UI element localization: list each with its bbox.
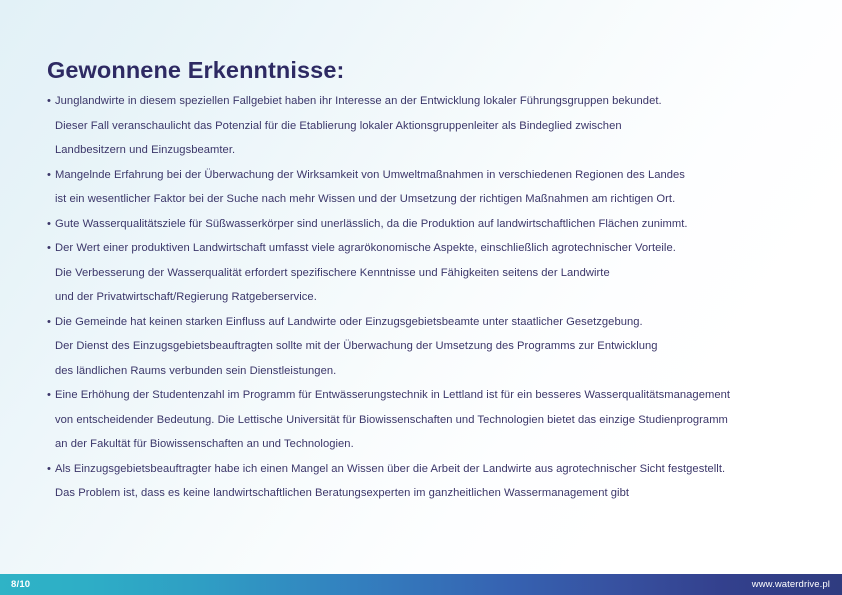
list-item-text: Der Dienst des Einzugsgebietsbeauftragte… (55, 340, 658, 352)
list-item-text: und der Privatwirtschaft/Regierung Ratge… (55, 291, 317, 303)
bullet-point-icon: • (47, 310, 55, 335)
list-item: •Als Einzugsgebietsbeauftragter habe ich… (47, 457, 807, 506)
list-item: •Junglandwirte in diesem speziellen Fall… (47, 89, 807, 163)
list-item-wrapped-line: ist ein wesentlicher Faktor bei der Such… (47, 187, 807, 212)
list-item-text: Mangelnde Erfahrung bei der Überwachung … (55, 169, 685, 181)
list-item-text: des ländlichen Raums verbunden sein Dien… (55, 365, 336, 377)
list-item: •Der Wert einer produktiven Landwirtscha… (47, 236, 807, 310)
list-item-first-line: •Die Gemeinde hat keinen starken Einflus… (47, 310, 807, 335)
list-item-first-line: •Als Einzugsgebietsbeauftragter habe ich… (47, 457, 807, 482)
list-item-text: Landbesitzern und Einzugsbeamter. (55, 144, 235, 156)
footer-bar: 8/10 www.waterdrive.pl (0, 574, 842, 595)
list-item-wrapped-line: an der Fakultät für Biowissenschaften an… (47, 432, 807, 457)
list-item-text: Die Verbesserung der Wasserqualität erfo… (55, 267, 610, 279)
list-item-wrapped-line: Die Verbesserung der Wasserqualität erfo… (47, 261, 807, 286)
list-item-text: von entscheidender Bedeutung. Die Lettis… (55, 414, 728, 426)
presentation-slide: Gewonnene Erkenntnisse: •Junglandwirte i… (0, 0, 842, 595)
list-item-wrapped-line: Dieser Fall veranschaulicht das Potenzia… (47, 114, 807, 139)
list-item-text: ist ein wesentlicher Faktor bei der Such… (55, 193, 675, 205)
list-item-first-line: •Der Wert einer produktiven Landwirtscha… (47, 236, 807, 261)
list-item-text: Junglandwirte in diesem speziellen Fallg… (55, 95, 662, 107)
list-item: •Die Gemeinde hat keinen starken Einflus… (47, 310, 807, 384)
list-item-wrapped-line: und der Privatwirtschaft/Regierung Ratge… (47, 285, 807, 310)
list-item: •Gute Wasserqualitätsziele für Süßwasser… (47, 212, 807, 237)
list-item-first-line: •Gute Wasserqualitätsziele für Süßwasser… (47, 212, 807, 237)
list-item: •Mangelnde Erfahrung bei der Überwachung… (47, 163, 807, 212)
page-title: Gewonnene Erkenntnisse: (47, 57, 344, 84)
bullet-point-icon: • (47, 236, 55, 261)
footer-website-link[interactable]: www.waterdrive.pl (752, 574, 830, 595)
list-item: •Eine Erhöhung der Studentenzahl im Prog… (47, 383, 807, 457)
bullet-point-icon: • (47, 163, 55, 188)
list-item-text: Als Einzugsgebietsbeauftragter habe ich … (55, 463, 725, 475)
list-item-wrapped-line: von entscheidender Bedeutung. Die Lettis… (47, 408, 807, 433)
list-item-wrapped-line: Der Dienst des Einzugsgebietsbeauftragte… (47, 334, 807, 359)
bullet-point-icon: • (47, 212, 55, 237)
list-item-text: Eine Erhöhung der Studentenzahl im Progr… (55, 389, 730, 401)
list-item-first-line: •Eine Erhöhung der Studentenzahl im Prog… (47, 383, 807, 408)
bullet-list: •Junglandwirte in diesem speziellen Fall… (47, 89, 807, 506)
bullet-point-icon: • (47, 457, 55, 482)
list-item-first-line: •Junglandwirte in diesem speziellen Fall… (47, 89, 807, 114)
list-item-text: Der Wert einer produktiven Landwirtschaf… (55, 242, 676, 254)
list-item-text: Gute Wasserqualitätsziele für Süßwasserk… (55, 218, 688, 230)
list-item-wrapped-line: des ländlichen Raums verbunden sein Dien… (47, 359, 807, 384)
list-item-text: Das Problem ist, dass es keine landwirts… (55, 487, 629, 499)
list-item-first-line: •Mangelnde Erfahrung bei der Überwachung… (47, 163, 807, 188)
footer-page-indicator: 8/10 (11, 574, 30, 595)
bullet-point-icon: • (47, 89, 55, 114)
list-item-wrapped-line: Das Problem ist, dass es keine landwirts… (47, 481, 807, 506)
list-item-text: Dieser Fall veranschaulicht das Potenzia… (55, 120, 622, 132)
list-item-wrapped-line: Landbesitzern und Einzugsbeamter. (47, 138, 807, 163)
bullet-point-icon: • (47, 383, 55, 408)
list-item-text: an der Fakultät für Biowissenschaften an… (55, 438, 354, 450)
list-item-text: Die Gemeinde hat keinen starken Einfluss… (55, 316, 643, 328)
